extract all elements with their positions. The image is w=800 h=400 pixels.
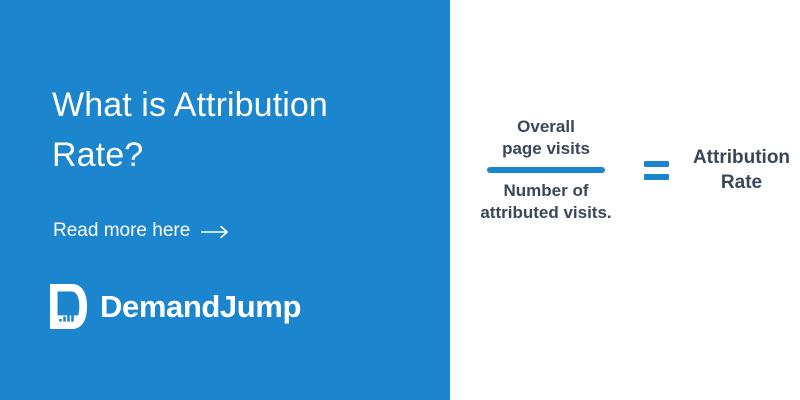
demandjump-d-bars-icon xyxy=(50,284,87,329)
demandjump-logo[interactable]: DemandJump xyxy=(50,284,301,329)
formula-fraction: Overall page visits Number of attributed… xyxy=(468,116,624,224)
demandjump-wordmark: DemandJump xyxy=(100,291,301,322)
fraction-bar-divider xyxy=(487,167,605,173)
promo-card: What is Attribution Rate? Read more here xyxy=(0,0,800,400)
fraction-numerator: Overall page visits xyxy=(468,116,624,160)
fraction-denominator: Number of attributed visits. xyxy=(468,180,624,224)
read-more-label: Read more here xyxy=(53,219,190,243)
arrow-right-icon xyxy=(201,225,231,239)
formula-result-label: Attribution Rate xyxy=(684,145,799,195)
equals-sign-icon xyxy=(638,161,674,180)
read-more-link[interactable]: Read more here xyxy=(53,219,231,243)
page-title: What is Attribution Rate? xyxy=(52,80,412,180)
equals-bar-bottom xyxy=(644,174,669,180)
equals-bar-top xyxy=(644,161,669,167)
attribution-rate-formula: Overall page visits Number of attributed… xyxy=(450,116,800,224)
left-blue-panel: What is Attribution Rate? Read more here xyxy=(0,0,450,400)
right-white-panel: Overall page visits Number of attributed… xyxy=(450,0,800,400)
